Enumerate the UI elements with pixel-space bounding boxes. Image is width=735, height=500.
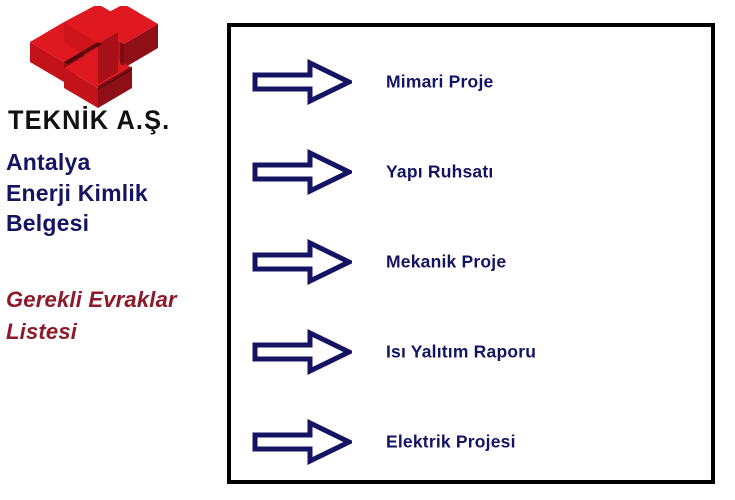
company-name: TEKNİK A.Ş. bbox=[8, 106, 196, 134]
document-label: Yapı Ruhsatı bbox=[386, 162, 493, 183]
arrow-right-icon bbox=[252, 58, 352, 106]
document-label: Mekanik Proje bbox=[386, 252, 506, 273]
organization-title-line-3: Belgesi bbox=[6, 208, 216, 239]
organization-title: Antalya Enerji Kimlik Belgesi bbox=[6, 147, 216, 239]
documents-panel: Mimari Proje Yapı Ruhsatı Mekanik Proje bbox=[227, 23, 715, 484]
document-label: Mimari Proje bbox=[386, 72, 493, 93]
organization-title-line-2: Enerji Kimlik bbox=[6, 178, 216, 209]
document-label: Elektrik Projesi bbox=[386, 432, 516, 453]
document-row[interactable]: Elektrik Projesi bbox=[231, 409, 711, 475]
document-subtitle: Gerekli Evraklar Listesi bbox=[6, 284, 221, 348]
organization-title-line-1: Antalya bbox=[6, 147, 216, 178]
document-row[interactable]: Mimari Proje bbox=[231, 49, 711, 115]
document-subtitle-line-1: Gerekli Evraklar bbox=[6, 284, 221, 316]
document-subtitle-line-2: Listesi bbox=[6, 316, 221, 348]
document-row[interactable]: Mekanik Proje bbox=[231, 229, 711, 295]
branding-column: TEKNİK A.Ş. Antalya Enerji Kimlik Belges… bbox=[0, 0, 220, 500]
document-label: Isı Yalıtım Raporu bbox=[386, 342, 536, 363]
slide-canvas: TEKNİK A.Ş. Antalya Enerji Kimlik Belges… bbox=[0, 0, 735, 500]
document-row[interactable]: Yapı Ruhsatı bbox=[231, 139, 711, 205]
arrow-right-icon bbox=[252, 418, 352, 466]
arrow-right-icon bbox=[252, 328, 352, 376]
document-row[interactable]: Isı Yalıtım Raporu bbox=[231, 319, 711, 385]
documents-list: Mimari Proje Yapı Ruhsatı Mekanik Proje bbox=[231, 27, 711, 480]
arrow-right-icon bbox=[252, 238, 352, 286]
arrow-right-icon bbox=[252, 148, 352, 196]
isometric-pinwheel-logo-icon bbox=[24, 6, 164, 110]
